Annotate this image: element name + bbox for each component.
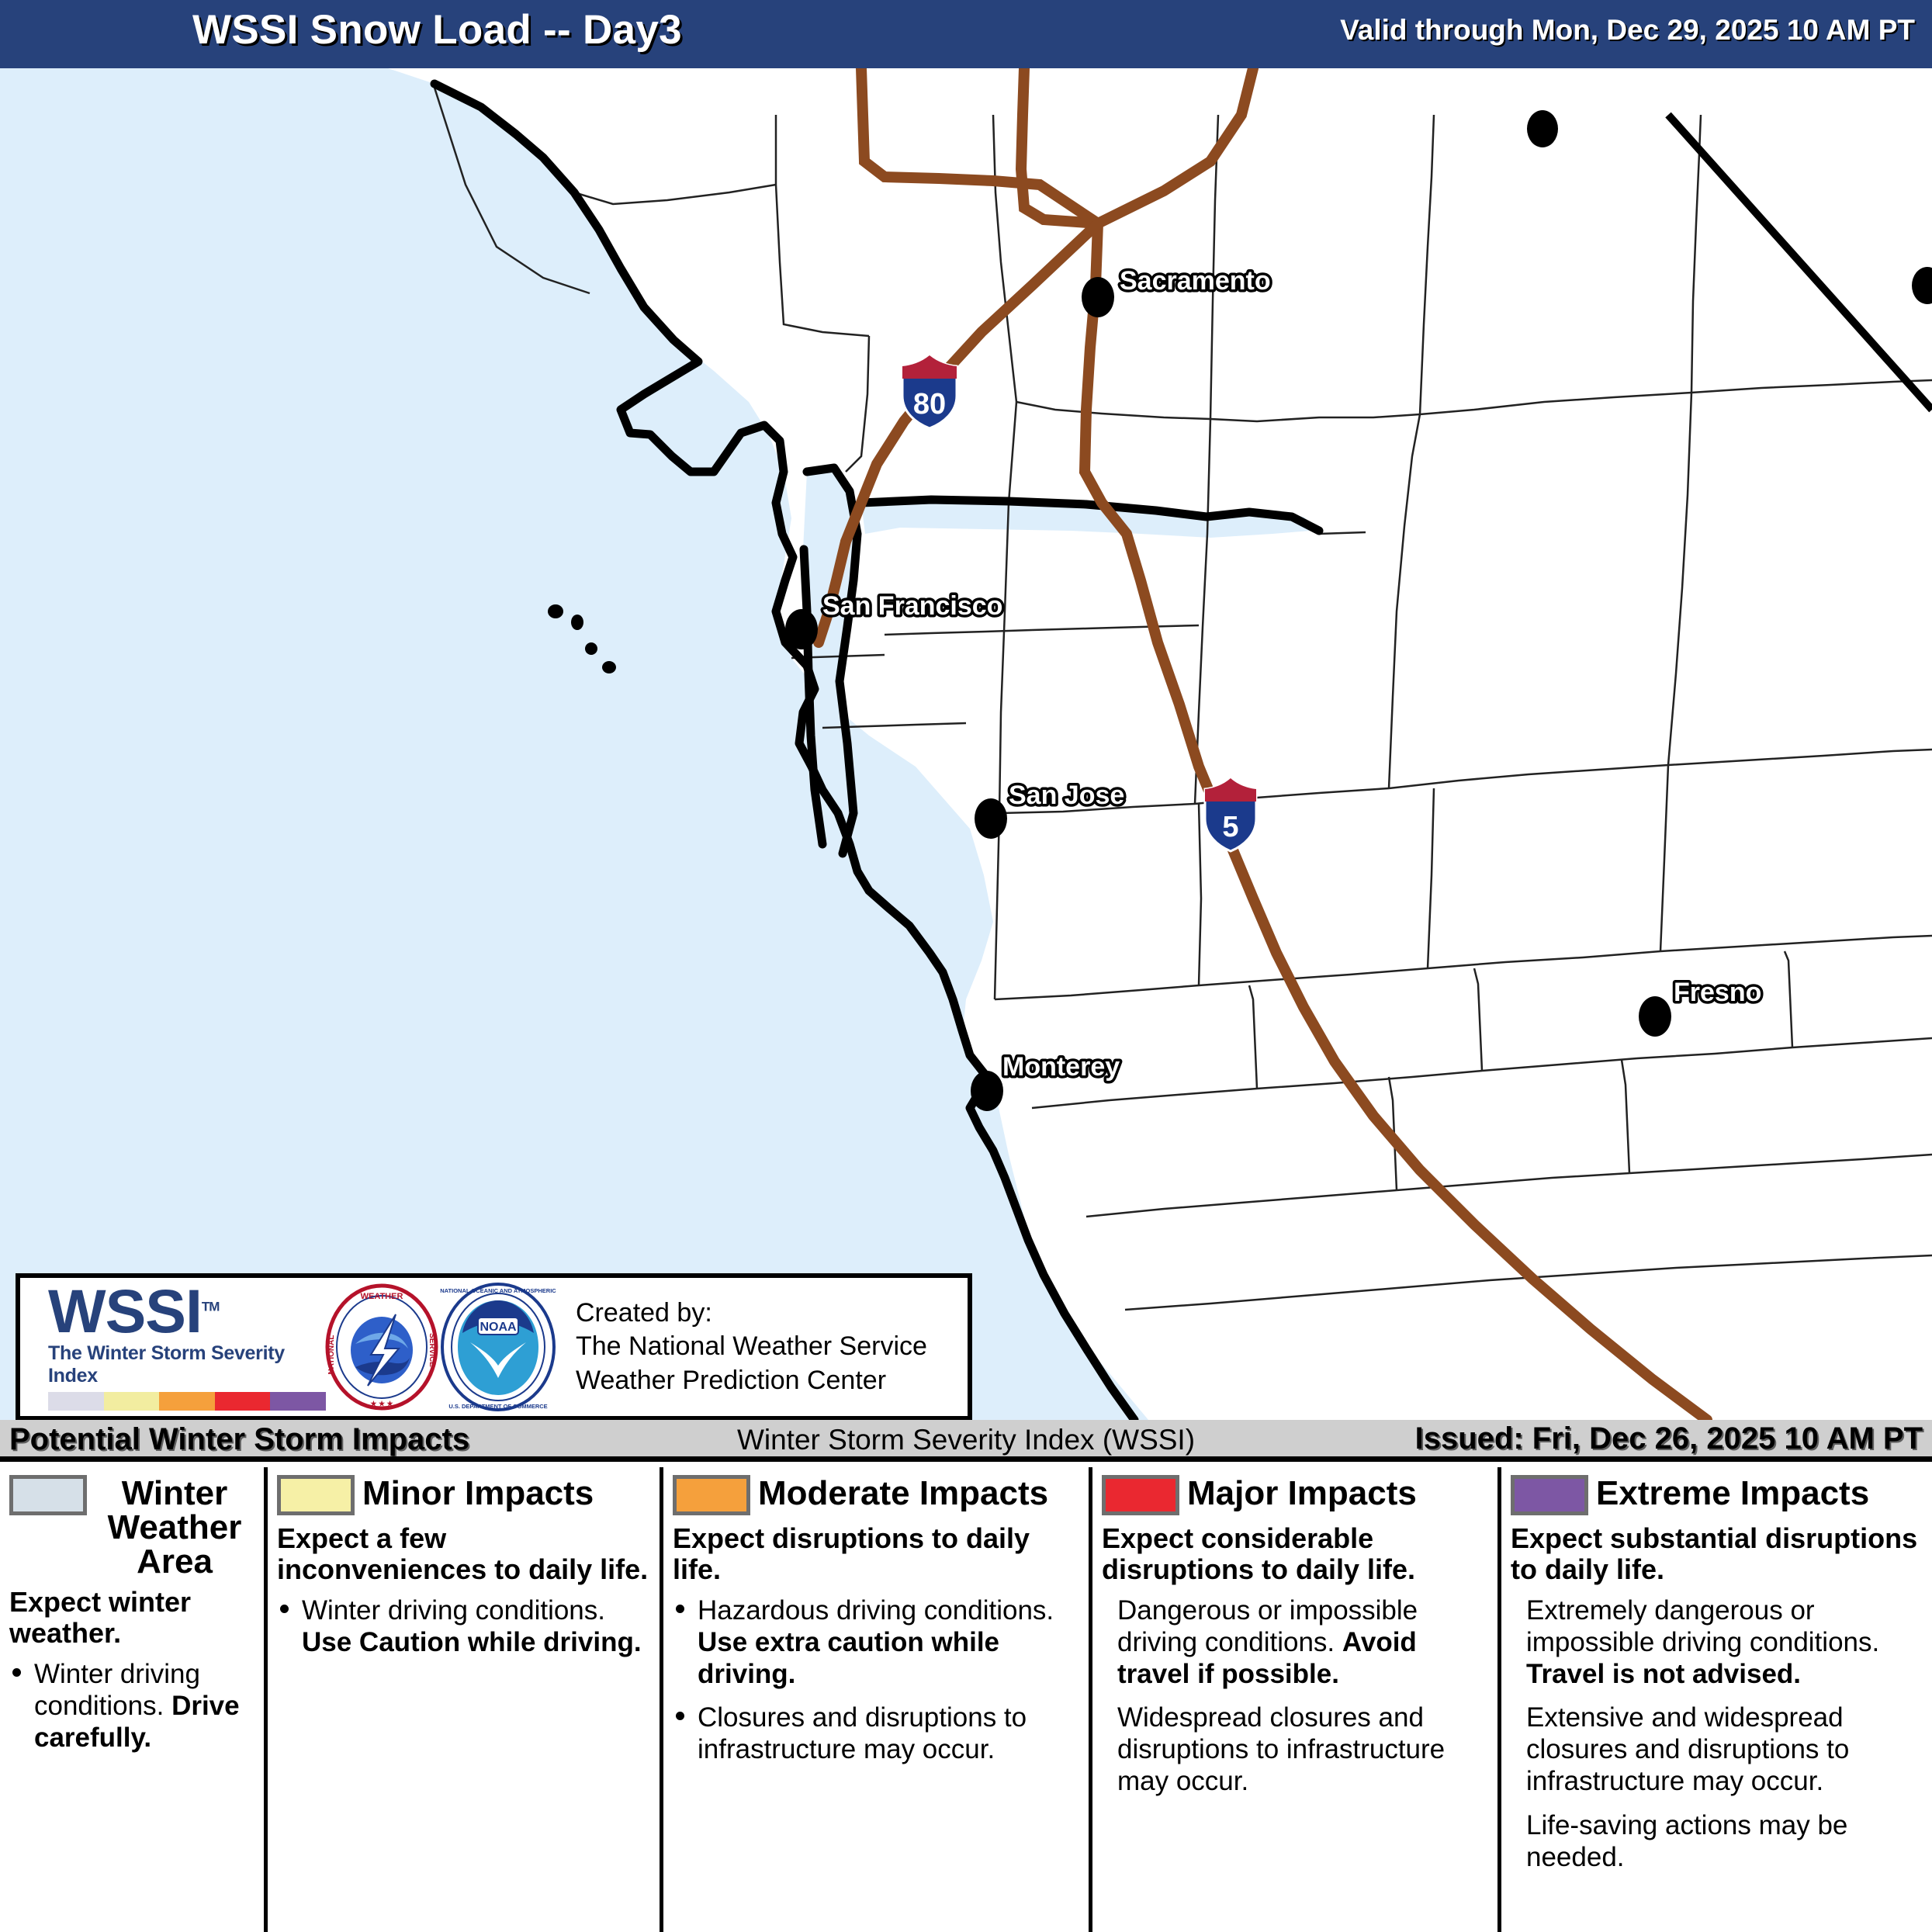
- legend-column-major-impacts[interactable]: Major ImpactsExpect considerable disrupt…: [1092, 1467, 1501, 1932]
- city-label-sacramento: Sacramento: [1120, 266, 1271, 296]
- legend-column-minor-impacts[interactable]: Minor ImpactsExpect a few inconveniences…: [268, 1467, 663, 1932]
- map-graphic: 80 5 Sacramento San Francisco San Jose F…: [0, 68, 1932, 1420]
- svg-text:NATIONAL: NATIONAL: [327, 1335, 336, 1374]
- legend-bullet-emphasis: Avoid travel if possible.: [1117, 1627, 1417, 1689]
- bullet-dot-icon: [676, 1605, 684, 1613]
- legend-bullet-item: Winter driving conditions. Use Caution w…: [277, 1595, 650, 1659]
- city-dot-fresno: [1639, 996, 1671, 1037]
- legend-summary: Expect disruptions to daily life.: [673, 1523, 1079, 1586]
- legend-column-extreme-impacts[interactable]: Extreme ImpactsExpect substantial disrup…: [1501, 1467, 1932, 1932]
- issued-timestamp: Issued: Fri, Dec 26, 2025 10 AM PT: [1415, 1421, 1923, 1456]
- legend-summary: Expect a few inconveniences to daily lif…: [277, 1523, 650, 1586]
- wssi-subtitle: Winter Storm Severity Index (WSSI): [737, 1424, 1195, 1456]
- legend-summary: Expect considerable disruptions to daily…: [1102, 1523, 1488, 1586]
- page-title: WSSI Snow Load -- Day3: [192, 6, 682, 54]
- legend-category-title: Moderate Impacts: [758, 1475, 1048, 1511]
- bullet-dot-icon: [12, 1668, 21, 1677]
- city-dot-monterey: [971, 1071, 1003, 1111]
- svg-text:5: 5: [1222, 811, 1238, 843]
- wssi-wordmark: WSSITM: [48, 1283, 324, 1340]
- city-dot-san-jose: [975, 798, 1007, 839]
- legend-bullet-emphasis: Travel is not advised.: [1526, 1659, 1801, 1689]
- interstate-shield-80: 80: [902, 355, 957, 428]
- legend-color-swatch: [9, 1475, 87, 1515]
- legend-summary: Expect substantial disruptions to daily …: [1511, 1523, 1923, 1586]
- wssi-tagline: The Winter Storm Severity Index: [48, 1342, 324, 1387]
- legend-color-swatch: [277, 1475, 355, 1515]
- legend-bullet-item: Extensive and widespread closures and di…: [1511, 1702, 1923, 1798]
- svg-text:80: 80: [913, 388, 946, 421]
- created-by-block: Created by: The National Weather Service…: [557, 1297, 968, 1398]
- wssi-trademark-icon: TM: [202, 1300, 220, 1314]
- legend-category-title: Minor Impacts: [362, 1475, 594, 1511]
- wssi-logo-mark: WSSITM The Winter Storm Severity Index: [20, 1283, 324, 1411]
- legend-header: Major Impacts: [1102, 1475, 1488, 1515]
- legend-summary: Expect winter weather.: [9, 1587, 254, 1650]
- legend-bullet-item: Hazardous driving conditions. Use extra …: [673, 1595, 1079, 1691]
- legend-bullet-item: Winter driving conditions. Drive careful…: [9, 1659, 254, 1754]
- city-dot-top-right: [1527, 110, 1558, 147]
- legend-bullet-item: Dangerous or impossible driving conditio…: [1102, 1595, 1488, 1691]
- svg-text:SERVICE: SERVICE: [428, 1333, 436, 1367]
- svg-text:★ ★ ★: ★ ★ ★: [370, 1400, 393, 1407]
- noaa-seal: NOAA NATIONAL OCEANIC AND ATMOSPHERIC U.…: [439, 1282, 557, 1412]
- wssi-snow-load-map-page: WSSI Snow Load -- Day3 Valid through Mon…: [0, 0, 1932, 1932]
- legend-category-title: Winter Weather Area: [95, 1475, 254, 1579]
- svg-text:WEATHER: WEATHER: [361, 1292, 403, 1301]
- city-label-san-francisco: San Francisco: [822, 591, 1002, 621]
- legend-bullet-item: Widespread closures and disruptions to i…: [1102, 1702, 1488, 1798]
- legend-bullet-emphasis: Use Caution while driving.: [302, 1627, 642, 1657]
- map-canvas[interactable]: 80 5 Sacramento San Francisco San Jose F…: [0, 68, 1932, 1420]
- legend-bullet-list: Hazardous driving conditions. Use extra …: [673, 1595, 1079, 1767]
- legend-category-title: Extreme Impacts: [1596, 1475, 1869, 1511]
- legend-bullet-emphasis: Use extra caution while driving.: [698, 1627, 999, 1689]
- created-by-line1: Created by:: [576, 1297, 968, 1331]
- city-label-fresno: Fresno: [1674, 978, 1761, 1007]
- legend-bullet-list: Winter driving conditions. Drive careful…: [9, 1659, 254, 1754]
- legend-header: Extreme Impacts: [1511, 1475, 1923, 1515]
- legend-bullet-list: Dangerous or impossible driving conditio…: [1102, 1595, 1488, 1799]
- legend-bullet-item: Extremely dangerous or impossible drivin…: [1511, 1595, 1923, 1691]
- valid-through-text: Valid through Mon, Dec 29, 2025 10 AM PT: [1340, 14, 1915, 47]
- legend-bullet-list: Extremely dangerous or impossible drivin…: [1511, 1595, 1923, 1875]
- created-by-line3: Weather Prediction Center: [576, 1364, 968, 1398]
- legend-color-swatch: [1102, 1475, 1179, 1515]
- potential-impacts-label: Potential Winter Storm Impacts: [9, 1422, 469, 1457]
- legend-color-swatch: [1511, 1475, 1588, 1515]
- status-bar: Potential Winter Storm Impacts Winter St…: [0, 1420, 1932, 1462]
- interstate-shield-5: 5: [1205, 778, 1256, 851]
- legend-color-swatch: [673, 1475, 750, 1515]
- legend-bullet-item: Closures and disruptions to infrastructu…: [673, 1702, 1079, 1766]
- offshore-islands: [548, 604, 616, 673]
- city-dot-san-francisco: [785, 609, 818, 649]
- svg-text:U.S. DEPARTMENT OF COMMERCE: U.S. DEPARTMENT OF COMMERCE: [448, 1403, 547, 1410]
- bullet-dot-icon: [280, 1605, 289, 1613]
- svg-text:NATIONAL OCEANIC AND ATMOSPHER: NATIONAL OCEANIC AND ATMOSPHERIC: [440, 1287, 556, 1294]
- national-weather-service-seal: WEATHER ★ ★ ★ NATIONAL SERVICE: [324, 1283, 439, 1411]
- bullet-dot-icon: [676, 1712, 684, 1720]
- legend-bullet-item: Life-saving actions may be needed.: [1511, 1810, 1923, 1874]
- legend-column-moderate-impacts[interactable]: Moderate ImpactsExpect disruptions to da…: [663, 1467, 1092, 1932]
- wssi-color-bars: [48, 1392, 326, 1411]
- legend-header: Winter Weather Area: [9, 1475, 254, 1579]
- legend-bullet-list: Winter driving conditions. Use Caution w…: [277, 1595, 650, 1659]
- legend-header: Minor Impacts: [277, 1475, 650, 1515]
- city-label-san-jose: San Jose: [1009, 781, 1124, 810]
- legend-category-title: Major Impacts: [1187, 1475, 1417, 1511]
- impacts-legend: Winter Weather AreaExpect winter weather…: [0, 1467, 1932, 1932]
- legend-header: Moderate Impacts: [673, 1475, 1079, 1515]
- legend-bullet-emphasis: Drive carefully.: [34, 1691, 240, 1753]
- created-by-line2: The National Weather Service: [576, 1330, 968, 1364]
- city-dot-sacramento: [1082, 277, 1114, 317]
- wssi-logo-box: WSSITM The Winter Storm Severity Index W…: [16, 1273, 972, 1421]
- svg-text:NOAA: NOAA: [480, 1321, 517, 1334]
- legend-column-winter-weather-area[interactable]: Winter Weather AreaExpect winter weather…: [0, 1467, 268, 1932]
- city-label-monterey: Monterey: [1002, 1052, 1120, 1082]
- page-header: WSSI Snow Load -- Day3 Valid through Mon…: [0, 0, 1932, 68]
